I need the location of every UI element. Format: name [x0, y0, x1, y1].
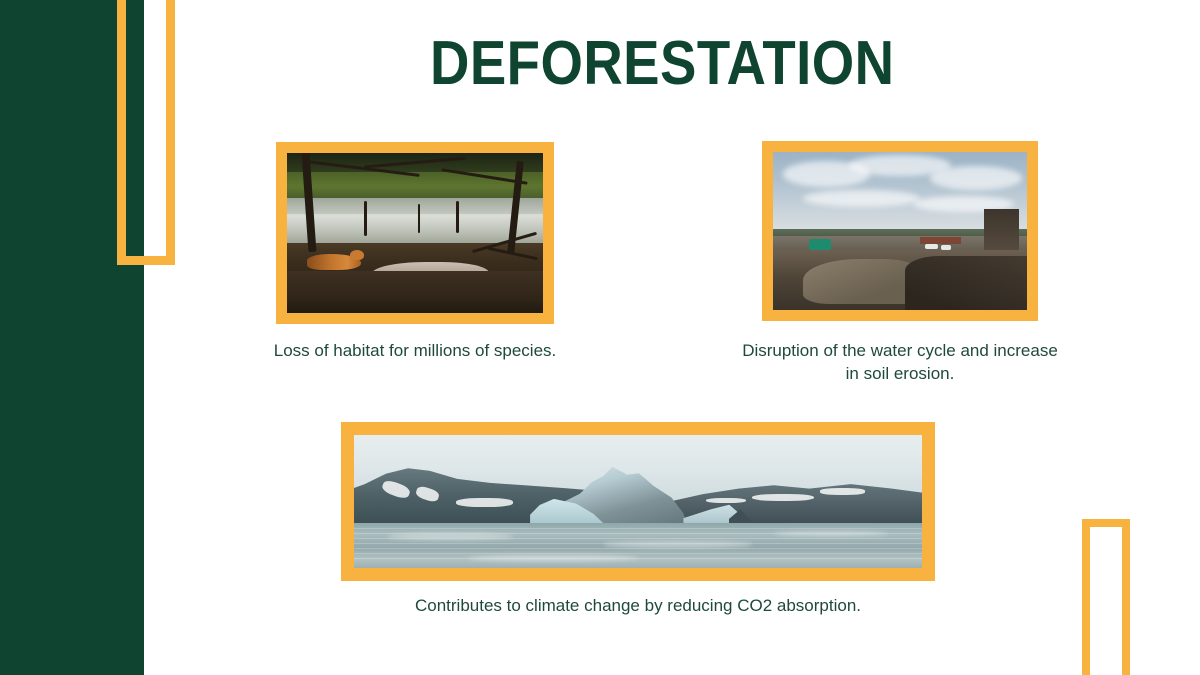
photo1-dead-stump — [364, 201, 367, 236]
photo3-snow-patch — [820, 488, 865, 495]
photo-tiger-habitat — [287, 153, 543, 313]
photo1-tiger — [307, 254, 361, 270]
photo1-dead-stump — [418, 204, 421, 233]
photo2-pit-dark-slope — [905, 256, 1027, 310]
photo3-snow-patch — [706, 498, 746, 503]
photo3-snow-patch — [456, 498, 513, 507]
image-frame-habitat — [276, 142, 554, 324]
photo2-ruined-building — [984, 209, 1020, 250]
photo3-water-glint — [388, 533, 513, 540]
page-title: DEFORESTATION — [430, 30, 870, 98]
photo3-snow-patch — [752, 494, 814, 502]
photo-excavated-site — [773, 152, 1027, 310]
photo-iceberg — [354, 435, 922, 568]
caption-habitat: Loss of habitat for millions of species. — [255, 340, 575, 363]
caption-water-cycle: Disruption of the water cycle and increa… — [740, 340, 1060, 386]
image-frame-climate-change — [341, 422, 935, 581]
photo2-cloud — [930, 166, 1021, 190]
photo3-water-glint — [604, 541, 752, 548]
photo2-vehicle — [925, 244, 938, 250]
left-orange-bracket-shape — [117, 0, 175, 265]
photo2-pit-light-slope — [803, 259, 920, 303]
photo1-dead-stump — [456, 201, 459, 233]
photo1-foreground-soil — [287, 271, 543, 313]
slide-deforestation: DEFORESTATION — [0, 0, 1200, 675]
image-frame-water-cycle — [762, 141, 1038, 321]
photo3-water-glint — [774, 531, 888, 536]
photo2-excavator — [809, 239, 832, 250]
photo1-green-bank — [287, 172, 543, 201]
bottom-right-orange-bracket-shape — [1082, 519, 1130, 675]
caption-climate-change: Contributes to climate change by reducin… — [338, 595, 938, 618]
